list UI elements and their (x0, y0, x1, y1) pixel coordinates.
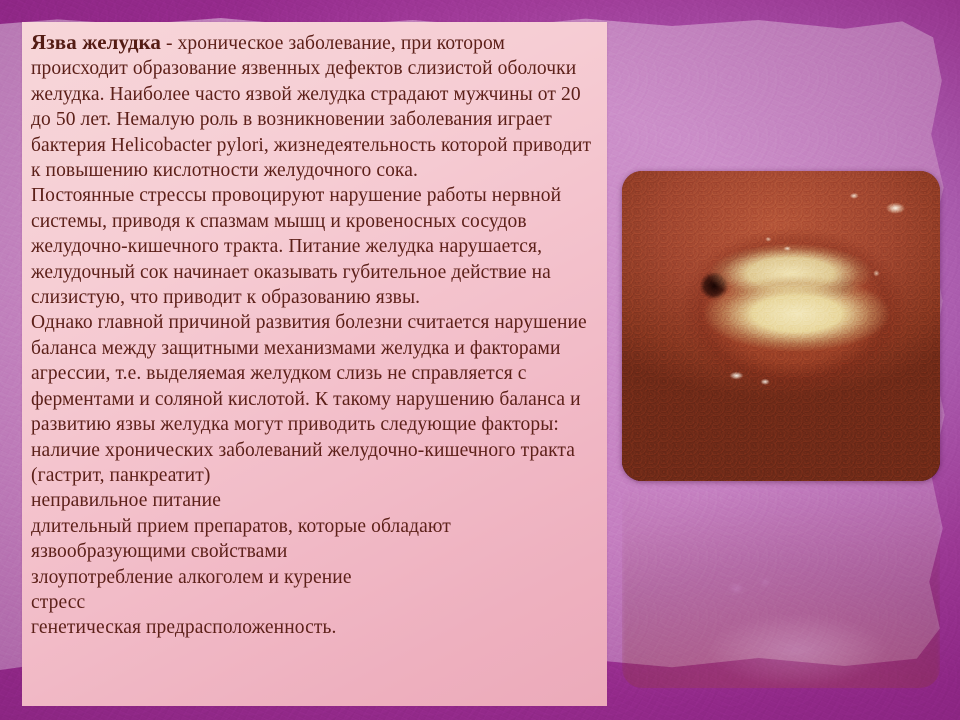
text-body: Язва желудка - хроническое заболевание, … (31, 30, 601, 641)
gastric-ulcer-photo (622, 171, 940, 481)
list-item-factor-nutrition: неправильное питание (31, 488, 601, 513)
gastric-ulcer-photo-reflection-image (622, 483, 940, 688)
gastric-ulcer-photo-frame (622, 171, 940, 481)
list-item-factor-medication: длительный прием препаратов, которые обл… (31, 514, 601, 565)
list-item-factor-alcohol-smoking: злоупотребление алкоголем и курение (31, 565, 601, 590)
list-item-factor-genetics: генетическая предрасположенность. (31, 615, 601, 640)
list-item-factor-stress: стресс (31, 590, 601, 615)
gastric-ulcer-photo-reflection (622, 483, 940, 688)
text-content-panel: Язва желудка - хроническое заболевание, … (22, 22, 607, 706)
paragraph-main-cause: Однако главной причиной развития болезни… (31, 310, 601, 488)
presentation-slide: Язва желудка - хроническое заболевание, … (0, 0, 960, 720)
gastric-ulcer-photo-vessels (622, 171, 940, 481)
paragraph-definition: Язва желудка - хроническое заболевание, … (31, 30, 601, 183)
paragraph-stress-mechanism: Постоянные стрессы провоцируют нарушение… (31, 183, 601, 310)
paragraph-definition-text: - хроническое заболевание, при котором п… (31, 33, 591, 181)
page-title: Язва желудка (31, 30, 161, 54)
